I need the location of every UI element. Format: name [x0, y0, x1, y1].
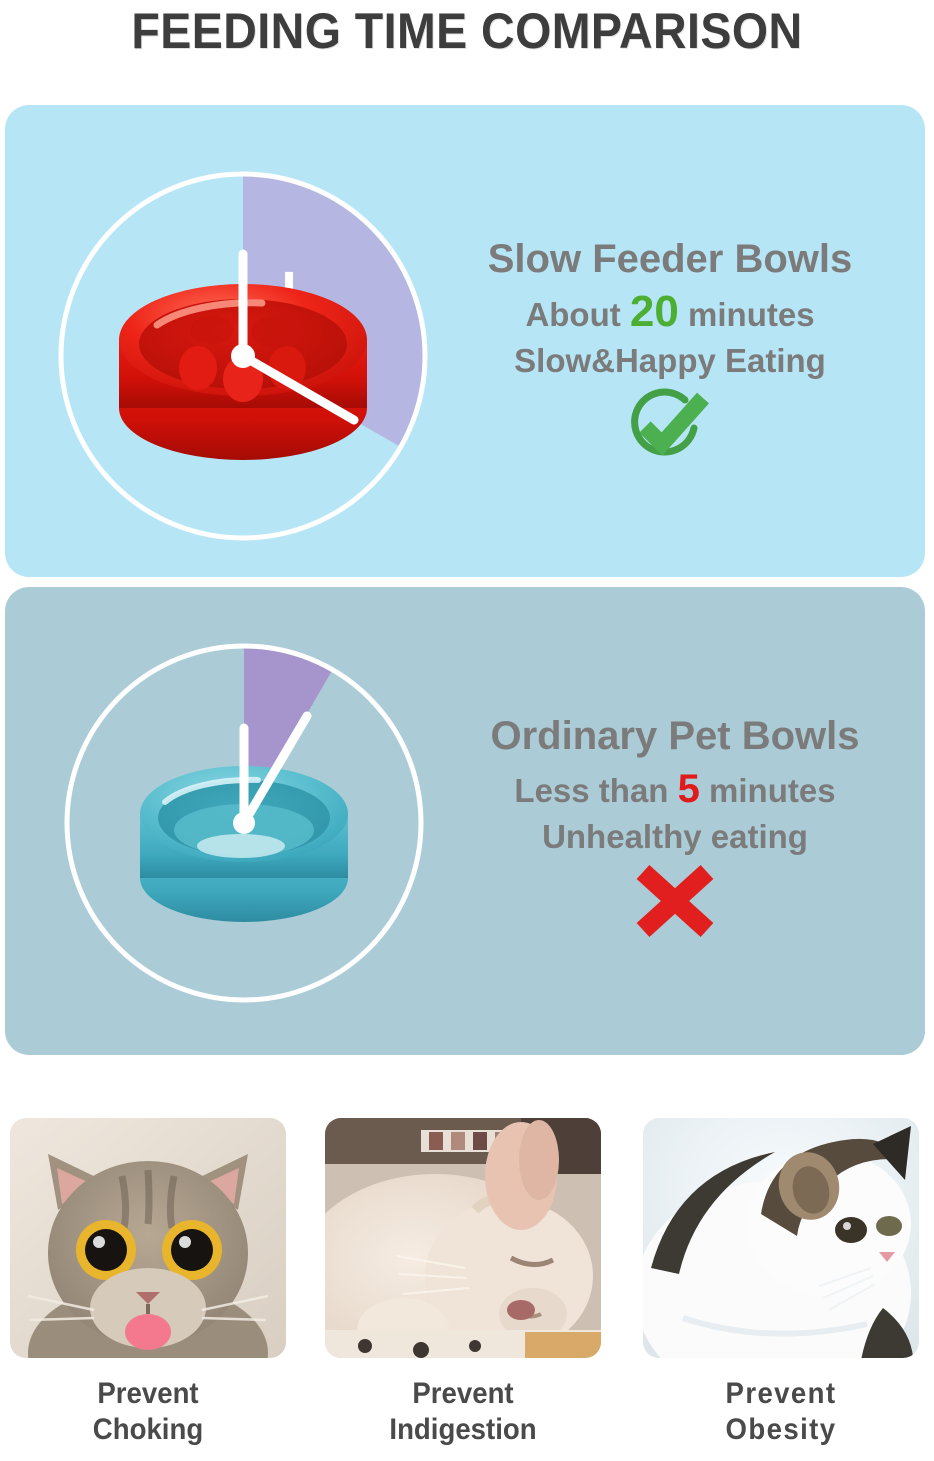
slow-feeder-text-block: Slow Feeder Bowls About 20 minutes Slow&…: [425, 235, 915, 471]
clock-ordinary-bowl: [53, 632, 435, 1014]
page-title: FEEDING TIME COMPARISON: [33, 2, 902, 60]
benefit-cards: Prevent Choking: [0, 1118, 934, 1461]
ordinary-bowl-time-line: Less than 5 minutes: [425, 766, 925, 814]
surprised-tabby-cat-with-tongue-out: [10, 1118, 286, 1358]
caption-line-1: Prevent: [21, 1376, 275, 1412]
clock-face-slow-feeder: [47, 160, 439, 552]
overweight-white-and-black-cat: [643, 1118, 919, 1358]
benefit-card-prevent-obesity: Prevent Obesity: [643, 1118, 919, 1448]
caption-line-1: Prevent: [654, 1376, 908, 1412]
slow-feeder-time-suffix: minutes: [688, 296, 815, 333]
caption-line-2: Obesity: [654, 1412, 908, 1448]
slow-feeder-subtitle: Slow&Happy Eating: [425, 338, 915, 384]
benefit-card-prevent-choking: Prevent Choking: [10, 1118, 286, 1448]
slow-feeder-heading: Slow Feeder Bowls: [425, 235, 915, 283]
check-circle-icon: [425, 388, 915, 471]
ordinary-bowl-heading: Ordinary Pet Bowls: [425, 712, 925, 760]
ordinary-bowl-subtitle: Unhealthy eating: [425, 814, 925, 860]
caption-line-1: Prevent: [336, 1376, 590, 1412]
ordinary-bowl-text-block: Ordinary Pet Bowls Less than 5 minutes U…: [425, 712, 925, 947]
comparison-panel-ordinary-bowl: Ordinary Pet Bowls Less than 5 minutes U…: [5, 587, 925, 1055]
benefit-caption-prevent-choking: Prevent Choking: [21, 1376, 275, 1448]
ordinary-bowl-time-prefix: Less than: [514, 772, 668, 809]
slow-feeder-time-value: 20: [630, 287, 679, 336]
slow-feeder-time-line: About 20 minutes: [425, 289, 915, 338]
caption-line-2: Indigestion: [336, 1412, 590, 1448]
cross-mark-icon: [425, 864, 925, 947]
benefit-caption-prevent-indigestion: Prevent Indigestion: [336, 1376, 590, 1448]
ordinary-bowl-time-value: 5: [678, 767, 700, 811]
infographic-page: FEEDING TIME COMPARISON: [0, 0, 934, 1461]
clock-slow-feeder: [47, 160, 439, 552]
benefit-card-prevent-indigestion: Prevent Indigestion: [325, 1118, 601, 1448]
caption-line-2: Choking: [21, 1412, 275, 1448]
comparison-panel-slow-feeder: Slow Feeder Bowls About 20 minutes Slow&…: [5, 105, 925, 577]
cream-cat-sleeping-being-petted: [325, 1118, 601, 1358]
clock-face-ordinary-bowl: [53, 632, 435, 1014]
ordinary-bowl-time-suffix: minutes: [709, 772, 836, 809]
benefit-caption-prevent-obesity: Prevent Obesity: [654, 1376, 908, 1448]
slow-feeder-time-prefix: About: [525, 296, 620, 333]
